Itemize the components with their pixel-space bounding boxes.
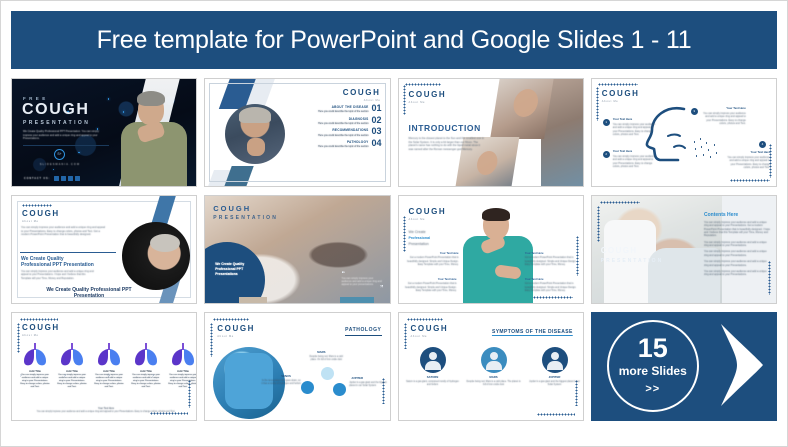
lungs-icon: [133, 343, 159, 367]
slide-grid: FREE COUGH PRESENTATION We Create Qualit…: [11, 78, 777, 421]
arrow-row: › › › › ›: [20, 373, 197, 380]
item-label: MARS: [317, 351, 325, 355]
venus-icon: [301, 381, 314, 394]
slide6-brand: COUGH PRESENTATION: [213, 204, 278, 222]
lungs-icon: [22, 343, 48, 367]
dot-rail: [22, 204, 52, 207]
slide11-title: COUGH: [411, 325, 449, 333]
callout-heading: Your Text Here: [613, 118, 657, 122]
more-slides-cta[interactable]: 15 more Slides >>: [591, 312, 777, 421]
page-title: Free template for PowerPoint and Google …: [97, 26, 692, 55]
text-block-1: Your Text Here Get a modern PowerPoint P…: [407, 252, 459, 266]
footer-bar-blue: [340, 297, 374, 304]
facebook-icon: [68, 176, 73, 181]
dot-rail: [407, 318, 443, 321]
slide5-brand: COUGH About Me: [22, 210, 60, 224]
dot-rail: [213, 318, 249, 321]
twitter-icon: [54, 176, 59, 181]
jupiter-icon: [333, 383, 346, 396]
slide3-body: Mercury is the closest planet to the Sun…: [409, 137, 485, 152]
dot-rail: [405, 83, 441, 86]
lung-step-4: Add Title You can simply impress your au…: [131, 343, 161, 389]
marker-icon: 4: [759, 141, 766, 148]
lung-step-2: Add Title You can simply impress your au…: [57, 343, 87, 389]
lungs-icon: [59, 343, 85, 367]
slide-thumbnail-4[interactable]: COUGH About Me 1 Your Text Here You can …: [591, 78, 777, 187]
lungs-row: Add Title You can simply impress your au…: [20, 343, 197, 389]
slide9-brand: COUGH About Me: [22, 324, 60, 338]
block-text: Get a modern PowerPoint Presentation tha…: [403, 282, 457, 292]
block-text: Get a modern PowerPoint Presentation tha…: [525, 256, 577, 266]
quote-block: “ You can simply impress your audience a…: [342, 273, 384, 292]
item-desc: Jupiter is a gas giant and the biggest p…: [349, 382, 389, 388]
slide1-body: We Create Quality Professional PPT Prese…: [23, 130, 101, 141]
symptom-2: MARS Despite being red, Mars is a cold p…: [466, 347, 522, 387]
callout-text: You can simply impress your audience and…: [726, 156, 770, 170]
slide-thumbnail-1[interactable]: FREE COUGH PRESENTATION We Create Qualit…: [11, 78, 197, 187]
slide7-tagline: We Create Professional Presentation: [409, 230, 455, 247]
slide5-top-text: You can simply impress your audience and…: [21, 226, 105, 237]
symptom-name: JUPITER: [527, 376, 583, 380]
callout-text: You can simply impress your audience and…: [702, 112, 746, 126]
person-icon: [420, 347, 446, 373]
symptom-desc: Saturn is a gas giant, composed mostly o…: [405, 381, 461, 387]
slide8-subtitle: PRESENTATION: [601, 258, 663, 265]
slide-thumbnail-11[interactable]: COUGH About Me SYMPTOMS OF THE DISEASE S…: [398, 312, 584, 421]
slide2-subtitle: About Me: [343, 99, 381, 103]
slide-thumbnail-2[interactable]: COUGH About Me ABOUT THE DISEASE Here yo…: [204, 78, 390, 187]
header-banner: Free template for PowerPoint and Google …: [11, 11, 777, 69]
section-underline: SYMPTOMS OF THE DISEASE: [492, 329, 573, 335]
chevron-right-icon: ›: [108, 373, 110, 380]
marker-icon: 2: [603, 151, 610, 158]
cta-count: 15: [638, 335, 668, 362]
dot-rail: [730, 179, 770, 182]
cough-droplets: [692, 137, 722, 159]
list-item: ABOUT THE DISEASE Here you could describ…: [300, 105, 382, 113]
agenda-label: RECOMMENDATIONS: [318, 128, 368, 132]
slide7-subtitle: About Me: [409, 218, 447, 222]
slide1-badge-caption: SLIDESMANIA.COM: [39, 163, 81, 166]
slide4-subtitle: About Me: [602, 100, 640, 104]
slide4-brand: COUGH About Me: [602, 90, 640, 104]
chevron-right-icon: ›: [196, 373, 197, 380]
slide1-subtitle: PRESENTATION: [23, 120, 90, 127]
coughing-man-photo: [118, 90, 192, 186]
divider: [20, 252, 116, 253]
slide9-subtitle: About Me: [22, 334, 60, 338]
item-label: VENUS: [281, 375, 291, 379]
dot-rail: [404, 323, 407, 349]
callout-3: Your Text Here You can simply impress yo…: [702, 107, 746, 125]
slide6-circle-text: We Create Quality Professional PPT Prese…: [215, 262, 255, 277]
slide-thumbnail-6[interactable]: COUGH PRESENTATION We Create Quality Pro…: [204, 195, 390, 304]
slide10-subtitle: About Me: [217, 335, 255, 339]
marker-icon: 3: [691, 108, 698, 115]
slide10-brand: COUGH About Me: [217, 325, 255, 339]
person-icon: [542, 347, 568, 373]
woman-coughing-photo: [490, 78, 554, 139]
agenda-number: 02: [371, 117, 381, 125]
marker-icon: 1: [603, 119, 610, 126]
slide6-title: COUGH: [213, 204, 278, 214]
slide3-subtitle: About Me: [409, 101, 447, 105]
slide2-brand: COUGH About Me: [343, 89, 381, 103]
text-block-4: Your Text Here Get a modern PowerPoint P…: [525, 278, 577, 292]
callout-text: You can simply impress your audience and…: [613, 155, 657, 169]
slide2-title: COUGH: [343, 89, 381, 97]
footer-bar-light: [239, 297, 267, 304]
dot-rail: [598, 83, 638, 86]
panel-paragraph: You can simply impress your audience and…: [704, 241, 770, 248]
dot-rail: [210, 323, 213, 357]
slide-thumbnail-5[interactable]: COUGH About Me You can simply impress yo…: [11, 195, 197, 304]
slide7-tagline-3: Presentation: [409, 242, 455, 248]
agenda-desc: Here you could describe the topic of the…: [318, 134, 368, 137]
symptom-name: MARS: [466, 376, 522, 380]
block-text: Get a modern PowerPoint Presentation tha…: [525, 282, 577, 292]
person-icon: [481, 347, 507, 373]
lung-step-1: Add Title You can simply impress your au…: [20, 343, 50, 389]
slide11-section-title: SYMPTOMS OF THE DISEASE: [492, 329, 573, 336]
panel-paragraph: You can simply impress your audience and…: [704, 270, 770, 277]
dot-rail: [20, 318, 58, 321]
agenda-label: ABOUT THE DISEASE: [318, 105, 368, 109]
slide5-footer-heading: We Create Quality Professional PPT Prese…: [34, 287, 144, 300]
panel-paragraph: You can simply impress your audience and…: [704, 250, 770, 257]
sneezing-man-photo: [122, 222, 190, 290]
dot-rail: [537, 413, 575, 416]
slide1-title: COUGH: [22, 102, 90, 118]
slide7-title: COUGH: [409, 208, 447, 216]
slide5-heading: We Create Quality Professional PPT Prese…: [21, 256, 95, 269]
slide-thumbnail-10[interactable]: COUGH About Me PATHOLOGY MARS Despite be…: [204, 312, 390, 421]
dot-rail: [403, 85, 406, 115]
contents-panel: Contents Here You can simply impress you…: [704, 212, 770, 280]
slide-gallery-page: Free template for PowerPoint and Google …: [0, 0, 788, 447]
callout-1: Your Text Here You can simply impress yo…: [613, 118, 657, 136]
slide3-heading: INTRODUCTION: [409, 123, 481, 134]
lung-step-3: Add Title You can simply impress your au…: [94, 343, 124, 389]
slide9-footer: Your Text Here You can simply impress yo…: [36, 408, 176, 414]
agenda-list: ABOUT THE DISEASE Here you could describ…: [300, 105, 382, 152]
symptom-desc: Jupiter is a gas giant and the biggest p…: [527, 381, 583, 387]
agenda-number: 03: [371, 128, 381, 136]
slide9-title: COUGH: [22, 324, 60, 332]
slide3-title: COUGH: [409, 91, 447, 99]
agenda-label: DIAGNOSIS: [318, 117, 368, 121]
chevron-right-icon: ›: [20, 373, 22, 380]
agenda-desc: Here you could describe the topic of the…: [318, 145, 368, 148]
chevron-right-icon: ›: [64, 373, 66, 380]
callout-4: Your Text Here You can simply impress yo…: [726, 151, 770, 169]
list-item: PATHOLOGY Here you could describe the to…: [300, 140, 382, 148]
panel-paragraph: You can simply impress your audience and…: [704, 260, 770, 267]
slide1-social-label: CONTACT US:: [24, 177, 50, 180]
social-row: CONTACT US:: [24, 176, 80, 181]
cta-label: more Slides: [619, 363, 687, 379]
callout-heading: Your Text Here: [702, 107, 746, 111]
dot-rail: [596, 87, 599, 121]
list-item: DIAGNOSIS Here you could describe the to…: [300, 117, 382, 125]
slide4-title: COUGH: [602, 90, 640, 98]
callout-heading: Your Text Here: [726, 151, 770, 155]
slide9-footer-text: You can simply impress your audience and…: [36, 411, 176, 414]
slide5-title: COUGH: [22, 210, 60, 218]
quote-close-icon: ”: [342, 287, 384, 291]
callout-heading: Your Text Here: [613, 150, 657, 154]
list-item: RECOMMENDATIONS Here you could describe …: [300, 128, 382, 136]
slide5-body: You can simply impress your audience and…: [21, 270, 95, 280]
lungs-icon: [170, 343, 196, 367]
slide11-subtitle: About Me: [411, 335, 449, 339]
slide5-subtitle: About Me: [22, 220, 60, 224]
callout-text: You can simply impress your audience and…: [613, 123, 657, 137]
agenda-desc: Here you could describe the topic of the…: [318, 110, 368, 113]
slide10-section-title: PATHOLOGY: [345, 327, 381, 336]
text-block-3: Your Text Here Get a modern PowerPoint P…: [525, 252, 577, 266]
agenda-desc: Here you could describe the topic of the…: [318, 122, 368, 125]
dot-rail: [597, 206, 600, 242]
agenda-number: 04: [371, 140, 381, 148]
lung-step-5: Add Title You can simply impress your au…: [168, 343, 197, 389]
thinking-man-photo: [225, 104, 285, 164]
text-block-2: Your Text Here Get a modern PowerPoint P…: [403, 278, 457, 292]
slidesmania-badge: S+: [54, 149, 65, 160]
symptom-columns: SATURN Saturn is a gas giant, composed m…: [405, 347, 583, 387]
slide-thumbnail-8[interactable]: COUGH PRESENTATION Contents Here You can…: [591, 195, 777, 304]
callout-2: Your Text Here You can simply impress yo…: [613, 150, 657, 168]
dot-rail: [600, 201, 640, 204]
item-label: JUPITER: [351, 377, 363, 381]
symptom-3: JUPITER Jupiter is a gas giant and the b…: [527, 347, 583, 387]
agenda-label: PATHOLOGY: [318, 140, 368, 144]
chevron-right-icon: ›: [152, 373, 154, 380]
panel-paragraph: You can simply impress your audience and…: [704, 221, 770, 238]
block-text: Get a modern PowerPoint Presentation tha…: [407, 256, 459, 266]
instagram-icon: [61, 176, 66, 181]
symptom-desc: Despite being red, Mars is a cold place.…: [466, 381, 522, 387]
slide3-brand: COUGH About Me: [409, 91, 447, 105]
cta-ring: 15 more Slides >>: [607, 320, 699, 412]
cta-chevron: >>: [645, 382, 660, 397]
agenda-number: 01: [371, 105, 381, 113]
coughing-man-teal-photo: [461, 210, 535, 304]
divider: [23, 145, 109, 146]
slide8-brand: COUGH PRESENTATION: [601, 246, 663, 265]
slide6-subtitle: PRESENTATION: [213, 215, 278, 222]
linkedin-icon: [75, 176, 80, 181]
slide10-title: COUGH: [217, 325, 255, 333]
symptom-name: SATURN: [405, 376, 461, 380]
slide-thumbnail-7[interactable]: COUGH About Me We Create Professional Pr…: [398, 195, 584, 304]
lungs-icon: [96, 343, 122, 367]
slide6-quote: You can simply impress your audience and…: [342, 277, 384, 287]
slide-thumbnail-3[interactable]: COUGH About Me INTRODUCTION Mercury is t…: [398, 78, 584, 187]
slide8-title: COUGH: [601, 246, 663, 257]
slide11-brand: COUGH About Me: [411, 325, 449, 339]
dot-rail: [403, 216, 406, 252]
symptom-1: SATURN Saturn is a gas giant, composed m…: [405, 347, 461, 387]
slide7-brand: COUGH About Me: [409, 208, 447, 222]
item-desc: Despite being red, Mars is a cold place.…: [306, 356, 346, 362]
mars-icon: [321, 367, 334, 380]
slide8-panel-heading: Contents Here: [704, 212, 770, 219]
slide-thumbnail-9[interactable]: COUGH About Me Add Title You can simply …: [11, 312, 197, 421]
item-desc: Is the temperature that goes down, so it…: [261, 380, 301, 386]
